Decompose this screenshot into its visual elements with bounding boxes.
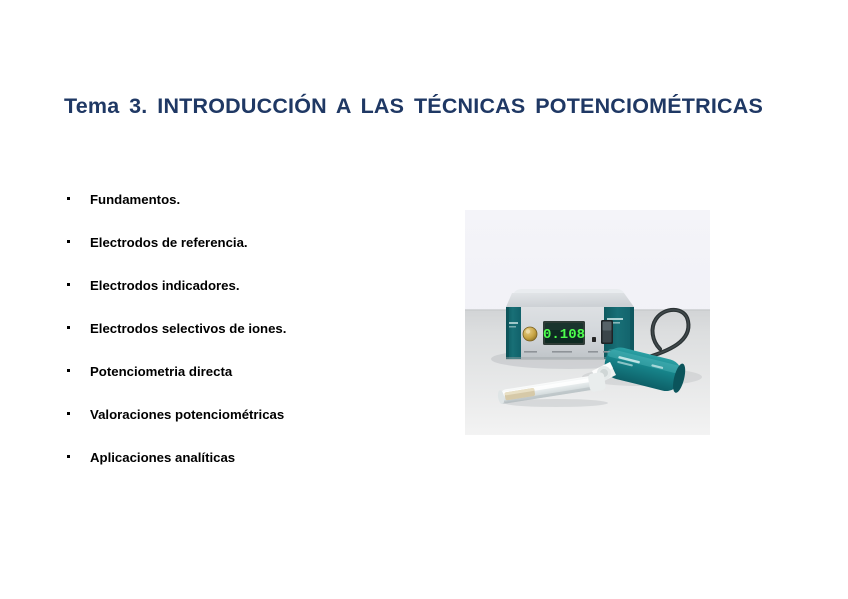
bullet-dot-icon (67, 412, 70, 415)
list-item-label: Aplicaciones analíticas (90, 450, 235, 466)
potentiometer-instrument-photo: 0.108 (464, 209, 711, 436)
list-item: Valoraciones potenciométricas (64, 407, 444, 450)
slide-canvas: Tema 3. INTRODUCCIÓN A LAS TÉCNICAS POTE… (0, 0, 848, 599)
list-item-label: Valoraciones potenciométricas (90, 407, 284, 423)
list-item-label: Electrodos selectivos de iones. (90, 321, 286, 337)
bullet-dot-icon (67, 197, 70, 200)
list-item-label: Potenciometria directa (90, 364, 232, 380)
page-title: Tema 3. INTRODUCCIÓN A LAS TÉCNICAS POTE… (64, 92, 763, 148)
list-item: Aplicaciones analíticas (64, 450, 444, 493)
list-item: Electrodos selectivos de iones. (64, 321, 444, 364)
list-item: Electrodos de referencia. (64, 235, 444, 278)
bullet-dot-icon (67, 369, 70, 372)
title-block: Tema 3. INTRODUCCIÓN A LAS TÉCNICAS POTE… (64, 92, 763, 148)
list-item-label: Electrodos de referencia. (90, 235, 248, 251)
list-item: Potenciometria directa (64, 364, 444, 407)
list-item-label: Fundamentos. (90, 192, 180, 208)
bullet-dot-icon (67, 326, 70, 329)
bullet-dot-icon (67, 240, 70, 243)
bullet-dot-icon (67, 455, 70, 458)
agenda-bullet-list: Fundamentos. Electrodos de referencia. E… (64, 192, 444, 493)
instrument-photo-graphic: 0.108 (464, 209, 711, 436)
bullet-dot-icon (67, 283, 70, 286)
list-item: Electrodos indicadores. (64, 278, 444, 321)
list-item: Fundamentos. (64, 192, 444, 235)
list-item-label: Electrodos indicadores. (90, 278, 240, 294)
